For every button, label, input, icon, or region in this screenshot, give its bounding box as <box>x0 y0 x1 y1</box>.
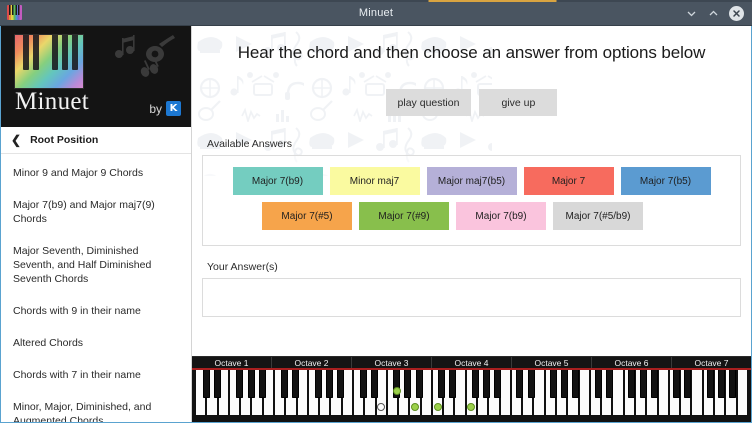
white-key-23[interactable] <box>454 370 465 416</box>
window-title: Minuet <box>0 7 752 19</box>
minimize-icon[interactable] <box>685 7 698 20</box>
sidebar-item-1[interactable]: Major 7(b9) and Major maj7(9) Chords <box>1 190 191 236</box>
black-key-7[interactable] <box>281 370 288 398</box>
page-title: Hear the chord and then choose an answer… <box>192 26 751 63</box>
minuet-logo-icon <box>14 34 84 89</box>
black-key-21[interactable] <box>438 370 445 398</box>
answer-chip-0[interactable]: Major 7(b9) <box>233 167 323 195</box>
note-marker-4 <box>467 403 475 411</box>
white-key-48[interactable] <box>737 370 748 416</box>
black-key-12[interactable] <box>337 370 344 398</box>
black-key-42[interactable] <box>673 370 680 398</box>
play-question-button[interactable]: play question <box>386 89 472 116</box>
chevron-left-icon[interactable]: ❮ <box>11 134 21 146</box>
white-key-41[interactable] <box>658 370 669 416</box>
your-answer-panel[interactable] <box>202 278 741 317</box>
black-key-32[interactable] <box>561 370 568 398</box>
black-key-25[interactable] <box>483 370 490 398</box>
kde-logo-icon: K <box>166 101 181 116</box>
black-key-8[interactable] <box>292 370 299 398</box>
black-key-39[interactable] <box>640 370 647 398</box>
white-key-34[interactable] <box>579 370 590 416</box>
sidebar-item-6[interactable]: Minor, Major, Diminished, and Augmented … <box>1 392 191 422</box>
sidebar-item-2[interactable]: Major Seventh, Diminished Seventh, and H… <box>1 236 191 296</box>
black-key-43[interactable] <box>684 370 691 398</box>
brand-by-label: by <box>149 102 162 116</box>
note-marker-1 <box>393 387 401 395</box>
octave-label-1: Octave 1 <box>192 357 272 368</box>
octave-label-4: Octave 4 <box>432 357 512 368</box>
maximize-icon[interactable] <box>707 7 720 20</box>
black-key-38[interactable] <box>628 370 635 398</box>
black-key-45[interactable] <box>707 370 714 398</box>
black-key-3[interactable] <box>236 370 243 398</box>
main-pane: Hear the chord and then choose an answer… <box>192 26 751 422</box>
black-key-18[interactable] <box>404 370 411 398</box>
window-controls <box>685 0 744 26</box>
white-key-27[interactable] <box>500 370 511 416</box>
white-key-30[interactable] <box>533 370 544 416</box>
black-key-24[interactable] <box>472 370 479 398</box>
black-key-35[interactable] <box>595 370 602 398</box>
octave-label-5: Octave 5 <box>512 357 592 368</box>
sidebar-header[interactable]: ❮ Root Position <box>1 127 191 154</box>
black-key-26[interactable] <box>494 370 501 398</box>
answer-chip-3[interactable]: Major 7 <box>524 167 614 195</box>
black-key-4[interactable] <box>248 370 255 398</box>
octave-label-6: Octave 6 <box>592 357 672 368</box>
note-marker-0 <box>377 403 385 411</box>
black-key-11[interactable] <box>326 370 333 398</box>
sidebar-item-0[interactable]: Minor 9 and Major 9 Chords <box>1 158 191 190</box>
black-key-46[interactable] <box>718 370 725 398</box>
sidebar-header-title: Root Position <box>30 134 98 146</box>
piano-keyboard: Octave 1Octave 2Octave 3Octave 4Octave 5… <box>192 356 751 422</box>
sidebar: Minuet by K ❮ Root Position Minor 9 and … <box>1 26 192 422</box>
black-key-47[interactable] <box>729 370 736 398</box>
piano-keys <box>192 370 751 422</box>
your-answer-label: Your Answer(s) <box>207 261 751 273</box>
note-marker-3 <box>434 403 442 411</box>
note-marker-2 <box>411 403 419 411</box>
sidebar-item-5[interactable]: Chords with 7 in their name <box>1 360 191 392</box>
give-up-button[interactable]: give up <box>479 89 557 116</box>
black-key-22[interactable] <box>449 370 456 398</box>
black-key-33[interactable] <box>572 370 579 398</box>
white-key-37[interactable] <box>612 370 623 416</box>
octave-label-2: Octave 2 <box>272 357 352 368</box>
black-key-29[interactable] <box>528 370 535 398</box>
sidebar-item-3[interactable]: Chords with 9 in their name <box>1 296 191 328</box>
black-key-40[interactable] <box>651 370 658 398</box>
black-key-31[interactable] <box>550 370 557 398</box>
answer-chip-7[interactable]: Major 7(b9) <box>456 202 546 230</box>
black-key-36[interactable] <box>606 370 613 398</box>
answer-chip-8[interactable]: Major 7(#5/b9) <box>553 202 643 230</box>
octave-label-3: Octave 3 <box>352 357 432 368</box>
black-key-10[interactable] <box>315 370 322 398</box>
answer-chip-6[interactable]: Major 7(#9) <box>359 202 449 230</box>
answer-row-2: Major 7(#5) Major 7(#9) Major 7(b9) Majo… <box>203 202 740 230</box>
answer-chip-4[interactable]: Major 7(b5) <box>621 167 711 195</box>
available-answers-panel: Major 7(b9) Minor maj7 Major maj7(b5) Ma… <box>202 155 741 246</box>
sidebar-list: Minor 9 and Major 9 Chords Major 7(b9) a… <box>1 154 191 422</box>
black-key-15[interactable] <box>371 370 378 398</box>
question-controls: play question give up <box>192 89 751 116</box>
app-icon <box>7 5 22 20</box>
octave-label-7: Octave 7 <box>672 357 751 368</box>
brand-name: Minuet <box>15 88 89 116</box>
available-answers-label: Available Answers <box>207 138 751 150</box>
answer-chip-1[interactable]: Minor maj7 <box>330 167 420 195</box>
black-key-5[interactable] <box>259 370 266 398</box>
answer-row-1: Major 7(b9) Minor maj7 Major maj7(b5) Ma… <box>203 167 740 195</box>
white-key-44[interactable] <box>691 370 702 416</box>
brand-panel: Minuet by K <box>1 26 191 127</box>
black-key-14[interactable] <box>360 370 367 398</box>
app-frame: Minuet by K ❮ Root Position Minor 9 and … <box>0 26 752 423</box>
music-decor-icon <box>111 32 179 78</box>
window-titlebar: Minuet <box>0 0 752 26</box>
octave-label-bar: Octave 1Octave 2Octave 3Octave 4Octave 5… <box>192 357 751 370</box>
close-icon[interactable] <box>729 6 744 21</box>
black-key-1[interactable] <box>214 370 221 398</box>
sidebar-item-4[interactable]: Altered Chords <box>1 328 191 360</box>
answer-chip-2[interactable]: Major maj7(b5) <box>427 167 517 195</box>
answer-chip-5[interactable]: Major 7(#5) <box>262 202 352 230</box>
black-key-28[interactable] <box>516 370 523 398</box>
brand-attribution: by K <box>149 101 181 116</box>
black-key-19[interactable] <box>416 370 423 398</box>
black-key-0[interactable] <box>203 370 210 398</box>
